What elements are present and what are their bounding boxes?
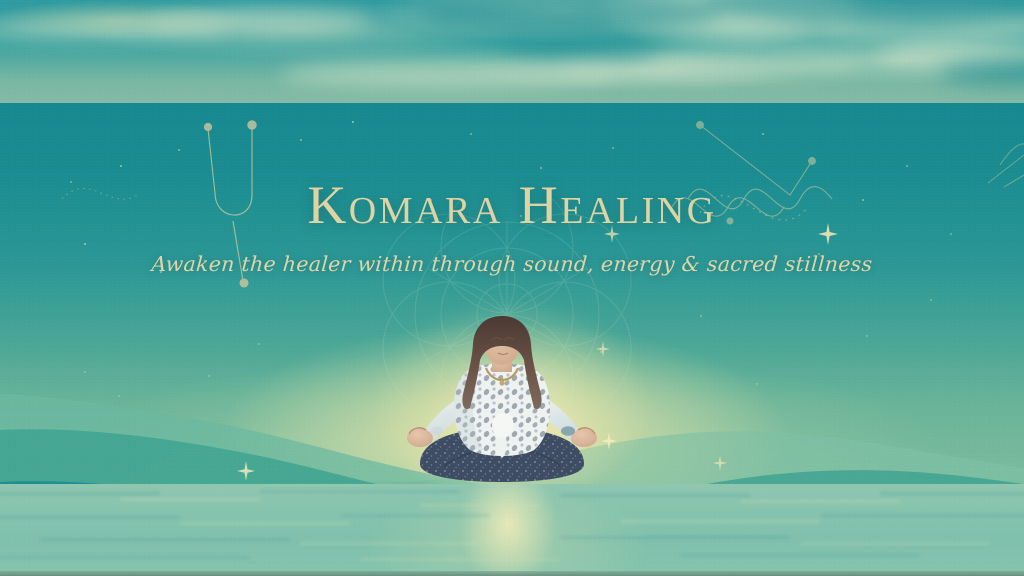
rippling-water-surface xyxy=(0,484,1024,576)
cloud-shape xyxy=(280,60,620,88)
meditating-woman-lotus-pose xyxy=(398,316,606,486)
wrist-beads xyxy=(561,426,575,436)
necklace-pendant xyxy=(499,380,504,385)
tagline: Awaken the healer within through sound, … xyxy=(0,252,1024,276)
cloud-shape xyxy=(500,40,660,62)
banner-stage: Komara Healing Awaken the healer within … xyxy=(0,0,1024,576)
page-title: Komara Healing xyxy=(0,178,1024,232)
water-bottom-edge xyxy=(0,571,1024,576)
cloud-sky-band xyxy=(0,0,1024,104)
wrist-bracelet xyxy=(431,427,443,436)
cloud-shape xyxy=(0,20,230,40)
